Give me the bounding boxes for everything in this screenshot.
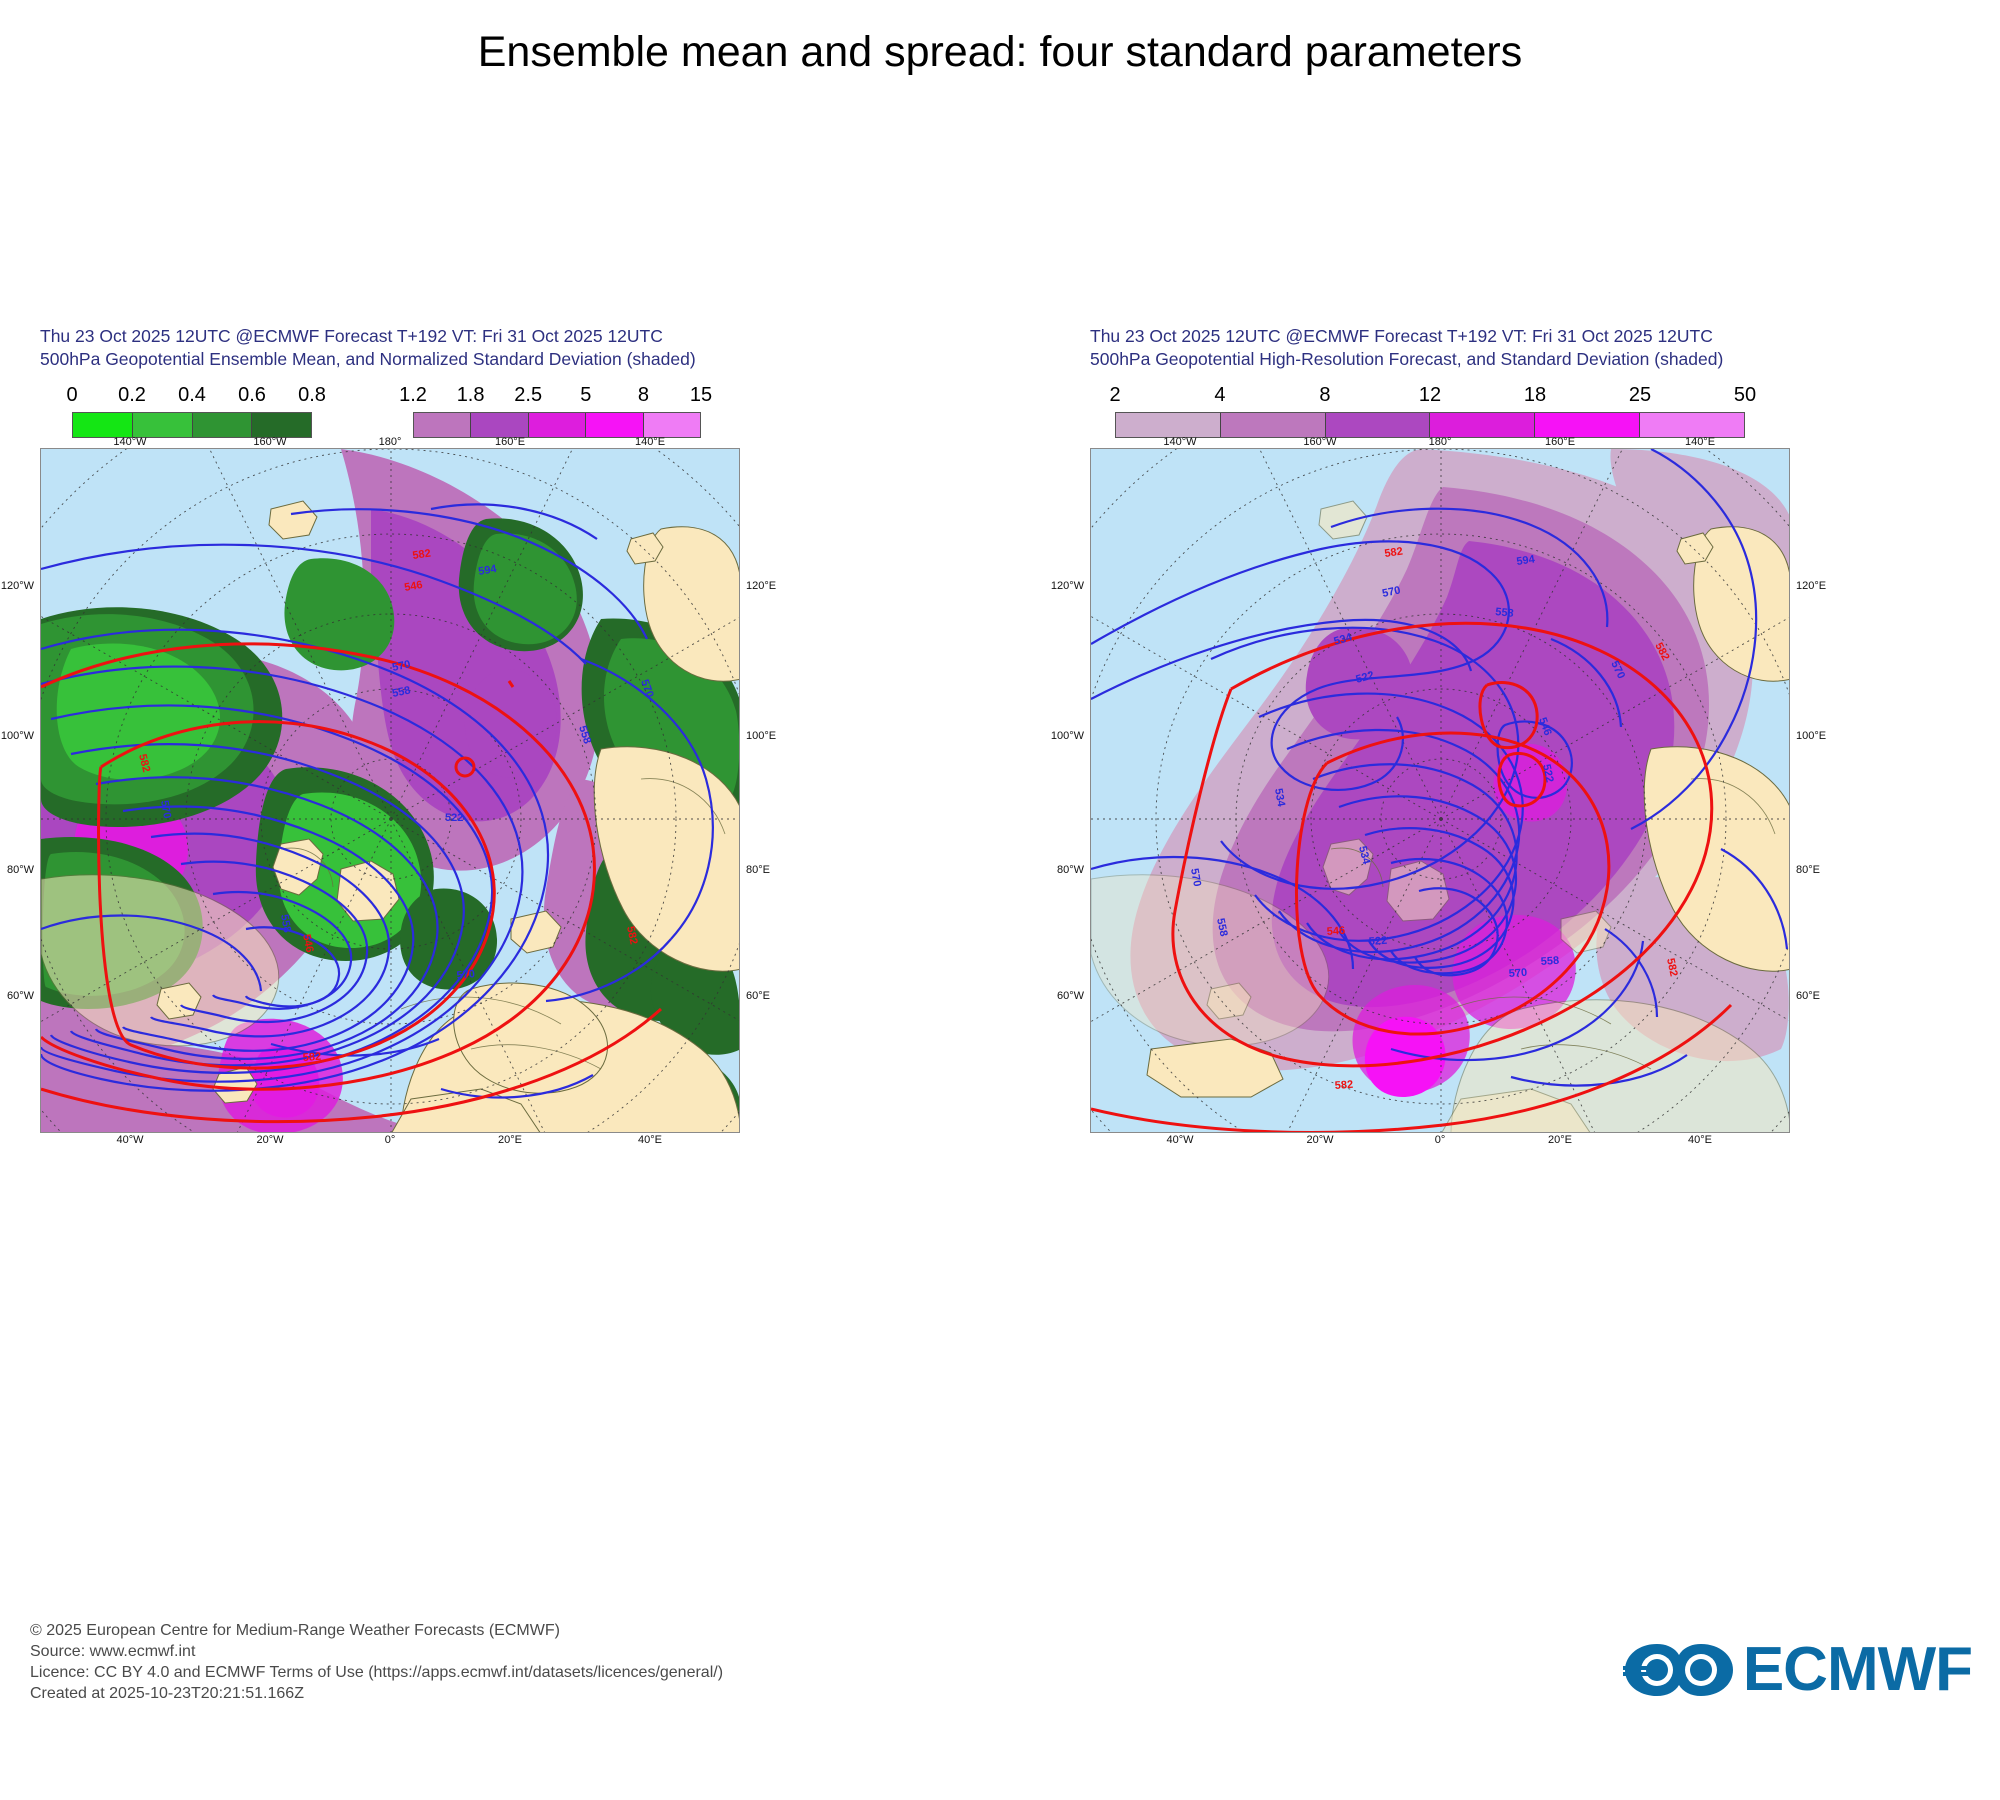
page-title: Ensemble mean and spread: four standard …: [0, 28, 2000, 77]
ecmwf-logo: ECMWF: [1623, 1638, 1972, 1702]
map-right-axis-top-label: 140°E: [1685, 436, 1715, 448]
colorbar-purple-tick: 1.8: [457, 384, 485, 407]
map-right-axis-bottom-label: 40°W: [1166, 1134, 1193, 1146]
map-left-axis-top-label: 180°: [379, 436, 402, 448]
ecmwf-wordmark: ECMWF: [1743, 1639, 1972, 1701]
map-hires-forecast-svg: 594 570 534 522 558 570 546 534 570 558 …: [1091, 449, 1790, 1133]
colorbar-swatch: [471, 413, 528, 437]
footer-licence: Licence: CC BY 4.0 and ECMWF Terms of Us…: [30, 1662, 723, 1683]
colorbar-purple-left-ticks: 1.2 1.8 2.5 5 8 15: [413, 384, 701, 408]
map-left-axis-top-label: 140°E: [635, 436, 665, 448]
colorbar-normalized-std-dev-high: [413, 412, 701, 438]
colorbar-std-dev-tick: 50: [1734, 384, 1756, 407]
map-left-axis-top-label: 140°W: [113, 436, 146, 448]
ecmwf-mark-icon: [1623, 1638, 1735, 1702]
svg-text:582: 582: [1334, 1079, 1353, 1092]
footer-created: Created at 2025-10-23T20:21:51.166Z: [30, 1683, 723, 1704]
map-left-axis-bottom-label: 40°W: [116, 1134, 143, 1146]
svg-text:582: 582: [1384, 546, 1404, 560]
colorbar-std-dev-tick: 4: [1214, 384, 1225, 407]
colorbar-purple-tick: 15: [690, 384, 712, 407]
colorbar-std-dev-tick: 2: [1109, 384, 1120, 407]
colorbar-green-tick: 0.4: [178, 384, 206, 407]
colorbar-swatch: [1221, 413, 1326, 437]
map-left-axis-left-label: 80°W: [7, 864, 40, 876]
svg-text:570: 570: [456, 968, 476, 982]
colorbar-swatch: [1535, 413, 1640, 437]
panel-left-header: Thu 23 Oct 2025 12UTC @ECMWF Forecast T+…: [40, 325, 960, 371]
svg-text:522: 522: [1368, 935, 1387, 948]
colorbar-swatch: [529, 413, 586, 437]
colorbar-swatch: [414, 413, 471, 437]
svg-text:582: 582: [412, 548, 432, 562]
colorbar-std-dev-tick: 12: [1419, 384, 1441, 407]
colorbar-green-ticks: 0 0.2 0.4 0.6 0.8: [72, 384, 312, 408]
map-left-axis-left-label: 120°W: [1, 580, 40, 592]
colorbar-swatch: [586, 413, 643, 437]
map-right-axis-right-label: 120°E: [1790, 580, 1826, 592]
map-left-axis-left-label: 60°W: [7, 990, 40, 1002]
map-right-axis-right-label: 100°E: [1790, 730, 1826, 742]
panel-high-resolution-forecast: Thu 23 Oct 2025 12UTC @ECMWF Forecast T+…: [1080, 325, 2000, 1133]
svg-text:558: 558: [1495, 606, 1515, 620]
colorbar-swatch: [644, 413, 700, 437]
colorbar-swatch: [1430, 413, 1535, 437]
panel-left-header-line2: 500hPa Geopotential Ensemble Mean, and N…: [40, 348, 960, 371]
map-right-axis-bottom-label: 20°W: [1306, 1134, 1333, 1146]
colorbar-green-tick: 0.2: [118, 384, 146, 407]
colorbar-std-dev-tick: 8: [1319, 384, 1330, 407]
map-hires-forecast-wrap: 594 570 534 522 558 570 546 534 570 558 …: [1090, 448, 1790, 1133]
svg-text:582: 582: [302, 1051, 321, 1064]
colorbar-std-dev: [1115, 412, 1745, 438]
colorbar-std-dev-ticks: 2 4 8 12 18 25 50: [1115, 384, 1745, 408]
colorbar-swatch: [1326, 413, 1431, 437]
map-right-axis-bottom-label: 20°E: [1548, 1134, 1572, 1146]
svg-text:558: 558: [1540, 955, 1559, 968]
map-left-axis-right-label: 60°E: [740, 990, 770, 1002]
map-ensemble-mean-wrap: 594 570 558 570 558 558 570 570 522 582: [40, 448, 740, 1133]
map-left-axis-bottom-label: 40°E: [638, 1134, 662, 1146]
panel-right-header-line2: 500hPa Geopotential High-Resolution Fore…: [1090, 348, 2000, 371]
colorbar-purple-tick: 5: [580, 384, 591, 407]
colorbar-swatch: [252, 413, 311, 437]
colorbar-swatch: [73, 413, 133, 437]
footer-source: Source: www.ecmwf.int: [30, 1641, 723, 1662]
map-ensemble-mean-svg: 594 570 558 570 558 558 570 570 522 582: [41, 449, 740, 1133]
map-left-axis-bottom-label: 0°: [385, 1134, 396, 1146]
colorbar-green-tick: 0.8: [298, 384, 326, 407]
map-left-axis-bottom-label: 20°W: [256, 1134, 283, 1146]
colorbar-swatch: [133, 413, 193, 437]
colorbar-purple-tick: 8: [638, 384, 649, 407]
colorbar-std-dev-tick: 18: [1524, 384, 1546, 407]
colorbar-purple-tick: 2.5: [514, 384, 542, 407]
panel-ensemble-mean: Thu 23 Oct 2025 12UTC @ECMWF Forecast T+…: [40, 325, 960, 1133]
map-right-axis-bottom-label: 0°: [1435, 1134, 1446, 1146]
map-hires-forecast[interactable]: 594 570 534 522 558 570 546 534 570 558 …: [1090, 448, 1790, 1133]
map-right-axis-left-label: 80°W: [1057, 864, 1090, 876]
map-right-axis-top-label: 160°E: [1545, 436, 1575, 448]
colorbar-swatch: [1640, 413, 1744, 437]
colorbar-green-tick: 0: [66, 384, 77, 407]
colorbar-purple-tick: 1.2: [399, 384, 427, 407]
panel-left-header-line1: Thu 23 Oct 2025 12UTC @ECMWF Forecast T+…: [40, 325, 960, 348]
colorbar-normalized-std-dev-low: [72, 412, 312, 438]
map-right-axis-right-label: 60°E: [1790, 990, 1820, 1002]
colorbar-green-tick: 0.6: [238, 384, 266, 407]
map-right-axis-left-label: 100°W: [1051, 730, 1090, 742]
footer-copyright: © 2025 European Centre for Medium-Range …: [30, 1620, 723, 1641]
map-left-axis-right-label: 80°E: [740, 864, 770, 876]
panel-right-colorbars: 2 4 8 12 18 25 50: [1080, 384, 2000, 442]
map-right-axis-top-label: 180°: [1429, 436, 1452, 448]
map-right-axis-top-label: 160°W: [1303, 436, 1336, 448]
map-right-axis-left-label: 120°W: [1051, 580, 1090, 592]
map-ensemble-mean[interactable]: 594 570 558 570 558 558 570 570 522 582: [40, 448, 740, 1133]
map-left-axis-right-label: 100°E: [740, 730, 776, 742]
map-right-axis-top-label: 140°W: [1163, 436, 1196, 448]
map-left-axis-top-label: 160°W: [253, 436, 286, 448]
svg-text:546: 546: [1326, 925, 1345, 938]
colorbar-std-dev-tick: 25: [1629, 384, 1651, 407]
colorbar-swatch: [1116, 413, 1221, 437]
footer: © 2025 European Centre for Medium-Range …: [30, 1620, 723, 1704]
panel-right-header: Thu 23 Oct 2025 12UTC @ECMWF Forecast T+…: [1090, 325, 2000, 371]
svg-text:522: 522: [445, 812, 463, 824]
map-left-axis-top-label: 160°E: [495, 436, 525, 448]
map-right-axis-bottom-label: 40°E: [1688, 1134, 1712, 1146]
map-left-axis-bottom-label: 20°E: [498, 1134, 522, 1146]
colorbar-swatch: [193, 413, 253, 437]
map-right-axis-right-label: 80°E: [1790, 864, 1820, 876]
map-left-axis-right-label: 120°E: [740, 580, 776, 592]
panel-left-colorbars: 0 0.2 0.4 0.6 0.8 1.2 1.8 2.5 5 8 15: [40, 384, 960, 442]
svg-text:570: 570: [1508, 967, 1527, 980]
panel-right-header-line1: Thu 23 Oct 2025 12UTC @ECMWF Forecast T+…: [1090, 325, 2000, 348]
map-left-axis-left-label: 100°W: [1, 730, 40, 742]
map-right-axis-left-label: 60°W: [1057, 990, 1090, 1002]
